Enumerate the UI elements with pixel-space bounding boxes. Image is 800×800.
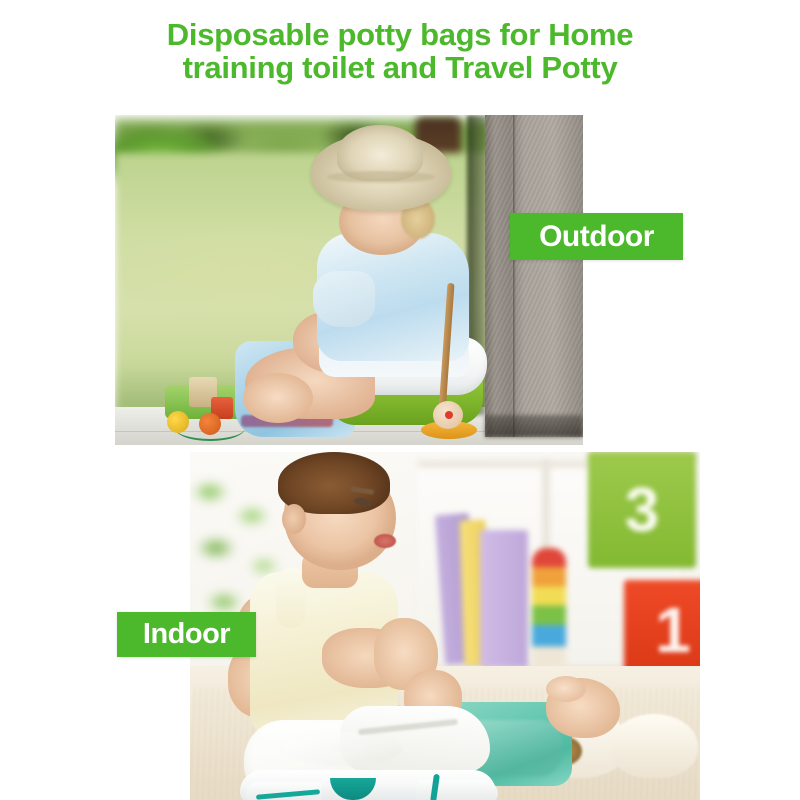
concrete-pillar [485,115,583,437]
toy-wheel-yellow [167,411,189,433]
tshirt-sleeve [313,271,375,327]
rainbow-stacking-toy [532,548,566,668]
straw-hat-band [327,171,435,183]
child-knee [243,373,313,423]
concrete-pillar-base-shadow [485,415,583,437]
page-title: Disposable potty bags for Home training … [0,18,800,85]
storage-box-red-number: 1 [624,580,700,680]
page-title-line-2: training toilet and Travel Potty [0,51,800,84]
page-title-line-1: Disposable potty bags for Home [0,18,800,51]
clown-toy-nose [445,411,453,419]
concrete-pillar-edge [513,115,516,437]
child-toes [546,676,586,702]
badge-indoor: Indoor [117,612,256,657]
outdoor-photo [115,115,583,445]
child-mouth [374,534,396,548]
book-purple-right [480,530,528,668]
child-ear [282,504,306,534]
toy-wheel-orange [199,413,221,435]
potty-bag-fold-left [282,732,402,766]
badge-outdoor: Outdoor [510,213,683,260]
toilet-paper-roll-back [610,714,698,778]
storage-box-green-number: 3 [588,452,696,568]
potty-chair-leg-right [416,780,498,800]
indoor-photo: 3 1 [190,452,700,800]
